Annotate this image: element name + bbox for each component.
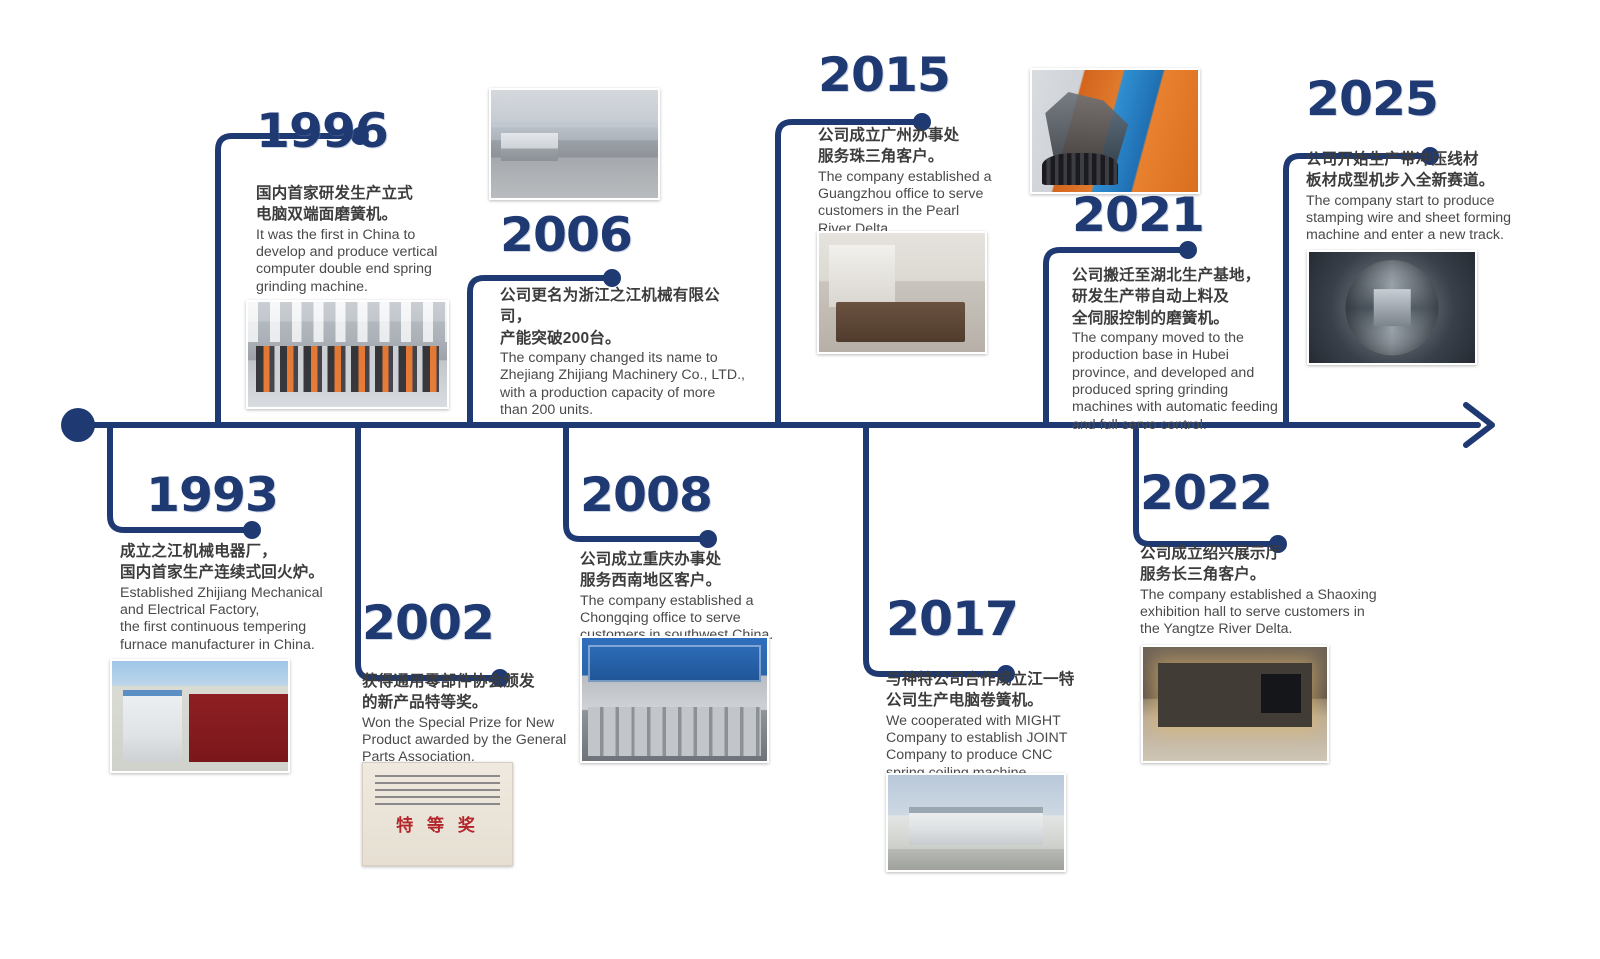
milestone-1996[interactable]: 1996 国内首家研发生产立式 电脑双端面磨簧机。 It was the fir…	[256, 108, 456, 296]
milestone-year-2017: 2017	[886, 596, 1099, 643]
automatic-feeding-machine-photo	[1030, 68, 1200, 194]
award-certificate-photo	[362, 762, 513, 866]
milestone-2025[interactable]: 2025 公司开始生产带冲压线材 板材成型机步入全新赛道。 The compan…	[1306, 76, 1516, 245]
milestone-2006[interactable]: 2006 公司更名为浙江之江机械有限公司， 产能突破200台。 The comp…	[500, 212, 750, 419]
milestone-2015[interactable]: 2015 公司成立广州办事处 服务珠三角客户。 The company esta…	[818, 52, 1018, 238]
milestone-en-text-2022: The company established a Shaoxing exhib…	[1140, 587, 1400, 639]
milestone-year-2006: 2006	[500, 212, 760, 259]
milestone-cn-text-2017: 与神特公司合作成立江一特 公司生产电脑卷簧机。	[886, 669, 1091, 712]
milestone-2022[interactable]: 2022 公司成立绍兴展示厅 服务长三角客户。 The company esta…	[1140, 470, 1400, 639]
plant-building-exterior-photo	[886, 773, 1066, 872]
milestone-en-text-1993: Established Zhijiang Mechanical and Elec…	[120, 585, 391, 654]
cnc-forming-machine-photo	[1307, 250, 1477, 365]
milestone-en-text-2017: We cooperated with MIGHT Company to esta…	[886, 713, 1091, 782]
milestone-cn-text-2008: 公司成立重庆办事处 服务西南地区客户。	[580, 549, 810, 592]
milestone-cn-text-2015: 公司成立广州办事处 服务珠三角客户。	[818, 125, 1018, 168]
milestone-2008[interactable]: 2008 公司成立重庆办事处 服务西南地区客户。 The company est…	[580, 472, 810, 645]
milestone-en-text-2015: The company established a Guangzhou offi…	[818, 169, 1018, 238]
shaoxing-exhibition-hall-photo	[1141, 645, 1329, 763]
milestone-year-2022: 2022	[1140, 470, 1410, 517]
milestone-year-2008: 2008	[580, 472, 819, 519]
milestone-2021[interactable]: 2021 公司搬迁至湖北生产基地， 研发生产带自动上料及 全伺服控制的磨簧机。 …	[1072, 192, 1287, 434]
milestone-cn-text-2022: 公司成立绍兴展示厅 服务长三角客户。	[1140, 543, 1400, 586]
milestone-en-text-2006: The company changed its name to Zhejiang…	[500, 350, 750, 419]
milestone-en-text-1996: It was the first in China to develop and…	[256, 227, 456, 296]
milestone-en-text-2025: The company start to produce stamping wi…	[1306, 193, 1516, 245]
factory-aerial-view-photo	[489, 88, 660, 200]
milestone-2017[interactable]: 2017 与神特公司合作成立江一特 公司生产电脑卷簧机。 We cooperat…	[886, 596, 1091, 782]
milestone-cn-text-2002: 获得通用零部件协会颁发 的新产品特等奖。	[362, 671, 592, 714]
milestone-en-text-2002: Won the Special Prize for New Product aw…	[362, 715, 592, 767]
guangzhou-office-interior-photo	[817, 231, 987, 354]
milestone-year-2025: 2025	[1306, 76, 1524, 123]
blue-signboard-shopfront-photo	[580, 636, 769, 763]
milestone-year-2015: 2015	[818, 52, 1026, 99]
milestone-year-2021: 2021	[1072, 192, 1296, 239]
milestone-en-text-2021: The company moved to the production base…	[1072, 330, 1287, 434]
milestone-cn-text-2006: 公司更名为浙江之江机械有限公司， 产能突破200台。	[500, 285, 750, 349]
milestone-1993[interactable]: 1993 成立之江机械电器厂， 国内首家生产连续式回火炉。 Establishe…	[146, 472, 391, 654]
milestone-year-1996: 1996	[256, 108, 464, 155]
milestone-cn-text-2021: 公司搬迁至湖北生产基地， 研发生产带自动上料及 全伺服控制的磨簧机。	[1072, 265, 1287, 329]
milestone-cn-text-2025: 公司开始生产带冲压线材 板材成型机步入全新赛道。	[1306, 149, 1516, 192]
milestone-cn-text-1993: 成立之江机械电器厂， 国内首家生产连续式回火炉。	[120, 541, 391, 584]
factory-gate-red-wall-photo	[110, 659, 290, 773]
milestone-2002[interactable]: 2002 获得通用零部件协会颁发 的新产品特等奖。 Won the Specia…	[362, 600, 592, 767]
milestone-year-2002: 2002	[362, 600, 601, 647]
milestone-cn-text-1996: 国内首家研发生产立式 电脑双端面磨簧机。	[256, 183, 456, 226]
timeline-start-dot	[61, 408, 95, 442]
milestone-year-1993: 1993	[146, 472, 401, 519]
timeline-infographic: 1996 国内首家研发生产立式 电脑双端面磨簧机。 It was the fir…	[0, 0, 1600, 959]
workshop-machines-photo	[246, 300, 449, 409]
